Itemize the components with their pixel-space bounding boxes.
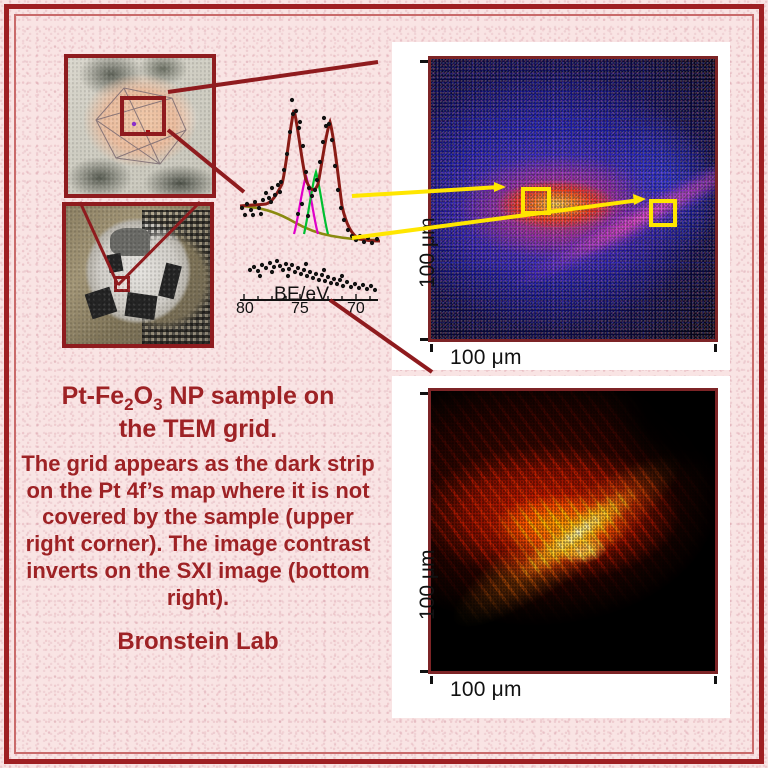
peem-scale-horizontal: 100 μm: [450, 346, 522, 370]
spectrum-data-points-upper: [240, 98, 379, 245]
caption-sub-2: 2: [124, 395, 133, 414]
sxi-vtick-top: [420, 392, 428, 395]
caption-lab-name: Bronstein Lab: [18, 628, 378, 656]
optical-roi-box: [120, 96, 166, 136]
caption-title-post: NP sample on: [163, 382, 335, 410]
caption-title-line2: the TEM grid.: [119, 415, 277, 443]
caption-body: The grid appears as the dark strip on th…: [18, 451, 378, 612]
holder-photo-grain: [66, 206, 210, 344]
sxi-image-card: 100 μm 100 μm: [392, 376, 730, 718]
xps-spectrum-plot: [236, 84, 382, 316]
peem-htick-right: [714, 344, 717, 352]
be-tick-80: 80: [236, 300, 254, 318]
sxi-htick-right: [714, 676, 717, 684]
be-tick-70: 70: [347, 300, 365, 318]
caption-title-pre: Pt-Fe: [62, 382, 125, 410]
poster-canvas: 80 75 70 BE/eV 100 μm 100 μm: [0, 0, 768, 768]
peem-vtick-top: [420, 60, 428, 63]
sample-holder-photo: [62, 202, 214, 348]
caption-title: Pt-Fe2O3 NP sample on the TEM grid.: [18, 382, 378, 444]
caption-block: Pt-Fe2O3 NP sample on the TEM grid. The …: [18, 382, 378, 656]
sxi-htick-left: [430, 676, 433, 684]
xps-spectrum-panel: 80 75 70 BE/eV: [236, 84, 382, 316]
caption-title-mid: O: [134, 382, 153, 410]
pt-4f-peem-map: [428, 56, 718, 342]
peem-htick-left: [430, 344, 433, 352]
envelope-fit-curve: [240, 110, 380, 241]
peem-vtick-bottom: [420, 338, 428, 341]
peem-map-card: 100 μm 100 μm: [392, 42, 730, 370]
sxi-image: [428, 388, 718, 674]
caption-sub-3: 3: [153, 395, 162, 414]
sxi-scale-vertical: 100 μm: [416, 550, 440, 620]
sxi-noise: [431, 391, 715, 671]
peem-roi-box-sample: [521, 187, 551, 215]
sxi-scale-horizontal: 100 μm: [450, 678, 522, 702]
be-axis-title: BE/eV: [274, 284, 329, 306]
sxi-vtick-bottom: [420, 670, 428, 673]
peem-scale-vertical: 100 μm: [416, 218, 440, 288]
peem-roi-box-grid: [649, 199, 677, 227]
optical-microscope-photo: [64, 54, 216, 198]
